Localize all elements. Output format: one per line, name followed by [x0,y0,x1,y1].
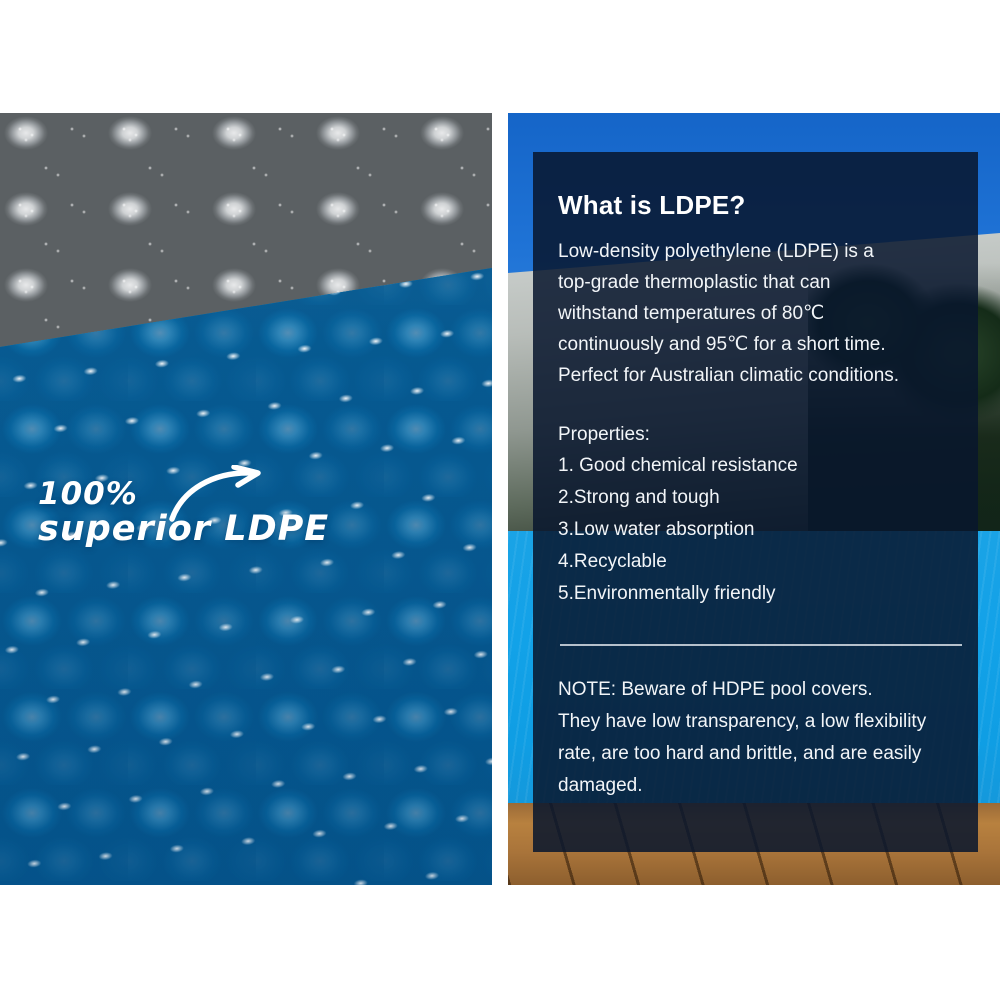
intro-line: Low-density polyethylene (LDPE) is a [558,236,950,267]
note-line: rate, are too hard and brittle, and are … [558,738,950,770]
infographic-canvas: 100% superior LDPE What is LDPE? Low-den… [0,0,1000,1000]
list-item: 2.Strong and tough [558,482,950,514]
section-divider [560,644,962,646]
intro-line: continuously and 95℃ for a short time. [558,329,950,360]
note-line: They have low transparency, a low flexib… [558,706,950,738]
intro-paragraph: Low-density polyethylene (LDPE) is a top… [558,236,950,391]
intro-line: top-grade thermoplastic that can [558,267,950,298]
note-line: damaged. [558,770,950,802]
properties-heading: Properties: [558,419,950,450]
intro-line: Perfect for Australian climatic conditio… [558,360,950,391]
list-item: 3.Low water absorption [558,514,950,546]
intro-line: withstand temperatures of 80℃ [558,298,950,329]
handwritten-callout: 100% superior LDPE [38,477,368,569]
properties-list: 1. Good chemical resistance 2.Strong and… [558,450,950,610]
note-line: NOTE: Beware of HDPE pool covers. [558,674,950,706]
right-info-panel: What is LDPE? Low-density polyethylene (… [508,113,1000,885]
info-card: What is LDPE? Low-density polyethylene (… [533,152,978,852]
list-item: 5.Environmentally friendly [558,578,950,610]
list-item: 1. Good chemical resistance [558,450,950,482]
card-title: What is LDPE? [558,190,950,220]
note-paragraph: NOTE: Beware of HDPE pool covers. They h… [558,674,950,802]
curved-arrow-icon [168,465,268,523]
list-item: 4.Recyclable [558,546,950,578]
left-product-image: 100% superior LDPE [0,113,492,885]
